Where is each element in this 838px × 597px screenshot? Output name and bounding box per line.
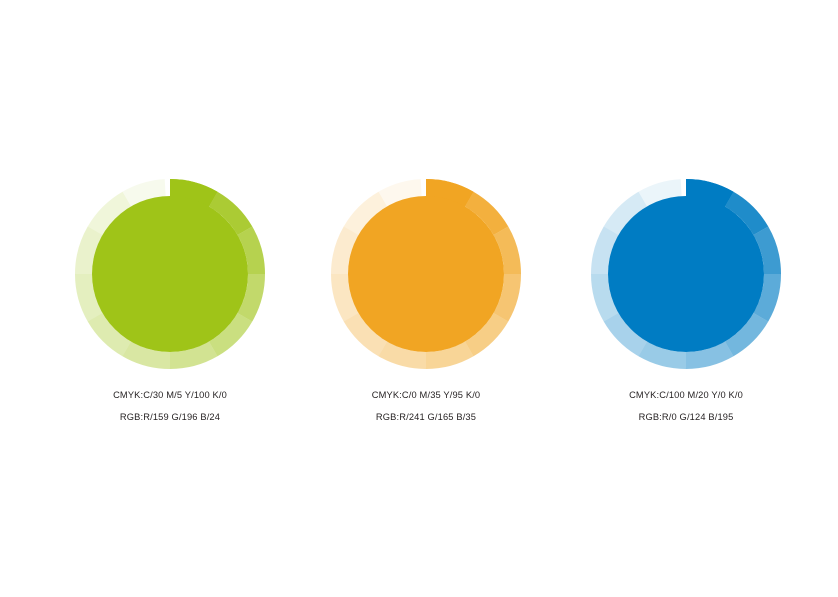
color-wheel-blue-graphic xyxy=(588,176,784,372)
color-swatch-orange: CMYK:C/0 M/35 Y/95 K/0 RGB:R/241 G/165 B… xyxy=(311,176,541,427)
color-swatch-green: CMYK:C/30 M/5 Y/100 K/0 RGB:R/159 G/196 … xyxy=(55,176,285,427)
color-wheel-blue xyxy=(588,176,784,372)
rgb-label-blue: RGB:R/0 G/124 B/195 xyxy=(571,408,801,427)
color-wheel-orange xyxy=(328,176,524,372)
cmyk-label-orange: CMYK:C/0 M/35 Y/95 K/0 xyxy=(311,386,541,405)
cmyk-label-blue: CMYK:C/100 M/20 Y/0 K/0 xyxy=(571,386,801,405)
rgb-label-orange: RGB:R/241 G/165 B/35 xyxy=(311,408,541,427)
rgb-label-green: RGB:R/159 G/196 B/24 xyxy=(55,408,285,427)
color-info-orange: CMYK:C/0 M/35 Y/95 K/0 RGB:R/241 G/165 B… xyxy=(311,386,541,427)
color-info-green: CMYK:C/30 M/5 Y/100 K/0 RGB:R/159 G/196 … xyxy=(55,386,285,427)
cmyk-label-green: CMYK:C/30 M/5 Y/100 K/0 xyxy=(55,386,285,405)
color-palette-canvas: CMYK:C/30 M/5 Y/100 K/0 RGB:R/159 G/196 … xyxy=(0,0,838,597)
color-wheel-green-graphic xyxy=(72,176,268,372)
inner-disc xyxy=(608,196,764,352)
color-info-blue: CMYK:C/100 M/20 Y/0 K/0 RGB:R/0 G/124 B/… xyxy=(571,386,801,427)
inner-disc xyxy=(348,196,504,352)
color-wheel-orange-graphic xyxy=(328,176,524,372)
inner-disc xyxy=(92,196,248,352)
color-wheel-green xyxy=(72,176,268,372)
color-swatch-blue: CMYK:C/100 M/20 Y/0 K/0 RGB:R/0 G/124 B/… xyxy=(571,176,801,427)
